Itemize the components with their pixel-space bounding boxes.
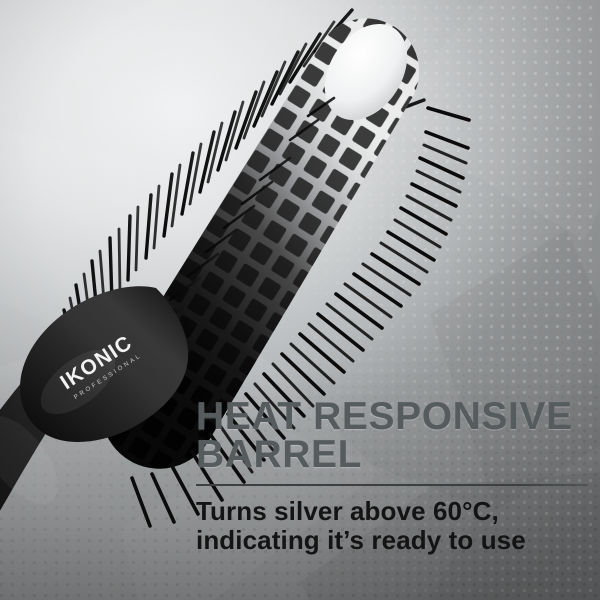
product-feature-banner: IKONIC PROFESSIONAL HEAT RESPONSIVE BARR… — [0, 0, 600, 600]
page-title: HEAT RESPONSIVE BARREL — [196, 398, 588, 474]
feature-description: Turns silver above 60°C, indicating it’s… — [196, 486, 588, 555]
headline-line-2: BARREL — [196, 433, 362, 476]
headline-line-1: HEAT RESPONSIVE — [196, 395, 573, 438]
subhead-line-2: indicating it’s ready to use — [196, 525, 526, 555]
feature-text-block: HEAT RESPONSIVE BARREL Turns silver abov… — [196, 398, 588, 555]
subhead-line-1: Turns silver above 60°C, — [196, 496, 499, 526]
